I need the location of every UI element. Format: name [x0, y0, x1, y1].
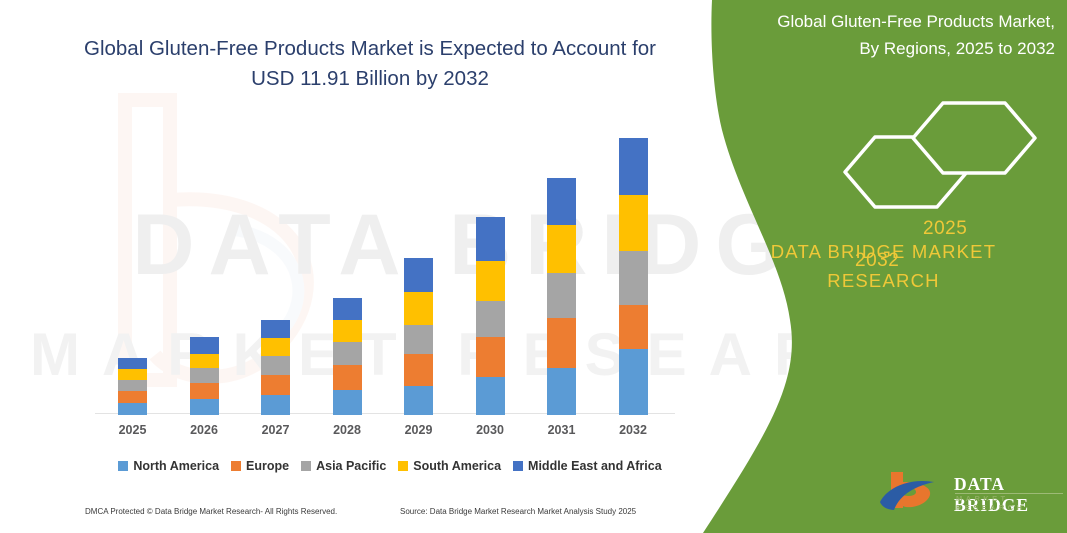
bar-segment [476, 337, 505, 377]
legend-label: Middle East and Africa [528, 459, 662, 473]
bar-segment [547, 273, 576, 318]
chart-heading: Global Gluten-Free Products Market, By R… [735, 8, 1055, 62]
x-label-2028: 2028 [317, 423, 377, 437]
stacked-bar-chart [95, 110, 685, 415]
bar-segment [190, 383, 219, 399]
bar-2025 [118, 358, 147, 415]
data-bridge-logo: DATA BRIDGE MARKET RESEARCH [878, 468, 1067, 520]
bar-2027 [261, 320, 290, 415]
x-label-2030: 2030 [460, 423, 520, 437]
green-panel-content: Global Gluten-Free Products Market, By R… [700, 0, 1067, 533]
bar-2032 [619, 138, 648, 415]
bar-segment [619, 349, 648, 415]
bar-segment [190, 337, 219, 354]
hexagon-2025 [913, 103, 1035, 173]
bar-segment [261, 375, 290, 395]
bar-segment [333, 342, 362, 365]
footer: DMCA Protected © Data Bridge Market Rese… [0, 507, 700, 523]
bar-segment [547, 178, 576, 225]
page-title: Global Gluten-Free Products Market is Ex… [60, 34, 680, 94]
bar-segment [619, 305, 648, 349]
legend-item-asia-pacific[interactable]: Asia Pacific [301, 459, 386, 473]
footer-source: Source: Data Bridge Market Research Mark… [400, 507, 636, 516]
legend-label: Europe [246, 459, 289, 473]
legend-label: South America [413, 459, 501, 473]
bar-segment [476, 301, 505, 337]
bar-2028 [333, 298, 362, 415]
bar-segment [404, 386, 433, 415]
x-label-2027: 2027 [246, 423, 306, 437]
bar-segment [476, 261, 505, 301]
chart-heading-line1: Global Gluten-Free Products Market, [777, 12, 1055, 31]
bar-segment [404, 292, 433, 325]
bar-segment [619, 138, 648, 195]
bar-segment [619, 251, 648, 305]
chart-x-axis-labels: 20252026202720282029203020312032 [95, 423, 685, 445]
x-label-2031: 2031 [532, 423, 592, 437]
x-label-2026: 2026 [174, 423, 234, 437]
bar-segment [547, 225, 576, 273]
legend-swatch-icon [301, 461, 311, 471]
legend-swatch-icon [513, 461, 523, 471]
bar-segment [261, 395, 290, 415]
bar-2026 [190, 337, 219, 415]
bar-segment [118, 391, 147, 403]
infographic-canvas: DATA BRIDGE MARKET RESEARCH Global Glute… [0, 0, 1067, 533]
bar-segment [404, 354, 433, 386]
bar-segment [333, 298, 362, 320]
legend-item-north-america[interactable]: North America [118, 459, 219, 473]
bar-segment [333, 365, 362, 390]
footer-copyright: DMCA Protected © Data Bridge Market Rese… [85, 507, 337, 516]
bar-segment [333, 390, 362, 415]
bar-segment [619, 195, 648, 251]
logo-tagline: MARKET RESEARCH [956, 494, 1067, 512]
legend-label: Asia Pacific [316, 459, 386, 473]
legend-swatch-icon [231, 461, 241, 471]
bar-2030 [476, 217, 505, 415]
x-label-2029: 2029 [389, 423, 449, 437]
legend-swatch-icon [118, 461, 128, 471]
bar-segment [404, 258, 433, 292]
chart-legend: North AmericaEuropeAsia PacificSouth Ame… [95, 455, 685, 477]
chart-heading-line2: By Regions, 2025 to 2032 [859, 39, 1055, 58]
bar-segment [261, 338, 290, 356]
hexagon-group: 2032 2025 [700, 90, 1067, 220]
x-label-2032: 2032 [603, 423, 663, 437]
bar-segment [190, 368, 219, 383]
bar-segment [333, 320, 362, 342]
bar-segment [190, 399, 219, 415]
bar-segment [476, 377, 505, 415]
bar-segment [261, 320, 290, 338]
brand-name: DATA BRIDGE MARKET RESEARCH [700, 237, 1067, 295]
brand-line1: DATA BRIDGE MARKET [771, 241, 996, 262]
bar-2031 [547, 178, 576, 415]
bar-2029 [404, 258, 433, 415]
legend-item-middle-east-and-africa[interactable]: Middle East and Africa [513, 459, 662, 473]
bar-segment [118, 380, 147, 391]
bar-segment [547, 368, 576, 415]
bar-segment [404, 325, 433, 354]
bar-segment [190, 354, 219, 368]
bar-segment [118, 358, 147, 369]
legend-label: North America [133, 459, 219, 473]
brand-line2: RESEARCH [827, 270, 939, 291]
bar-segment [476, 217, 505, 261]
bar-segment [261, 356, 290, 375]
legend-swatch-icon [398, 461, 408, 471]
page-title-line2: USD 11.91 Billion by 2032 [251, 67, 489, 90]
legend-item-europe[interactable]: Europe [231, 459, 289, 473]
bar-segment [547, 318, 576, 368]
x-label-2025: 2025 [103, 423, 163, 437]
bar-segment [118, 403, 147, 415]
bar-segment [118, 369, 147, 380]
legend-item-south-america[interactable]: South America [398, 459, 501, 473]
page-title-line1: Global Gluten-Free Products Market is Ex… [84, 37, 656, 60]
